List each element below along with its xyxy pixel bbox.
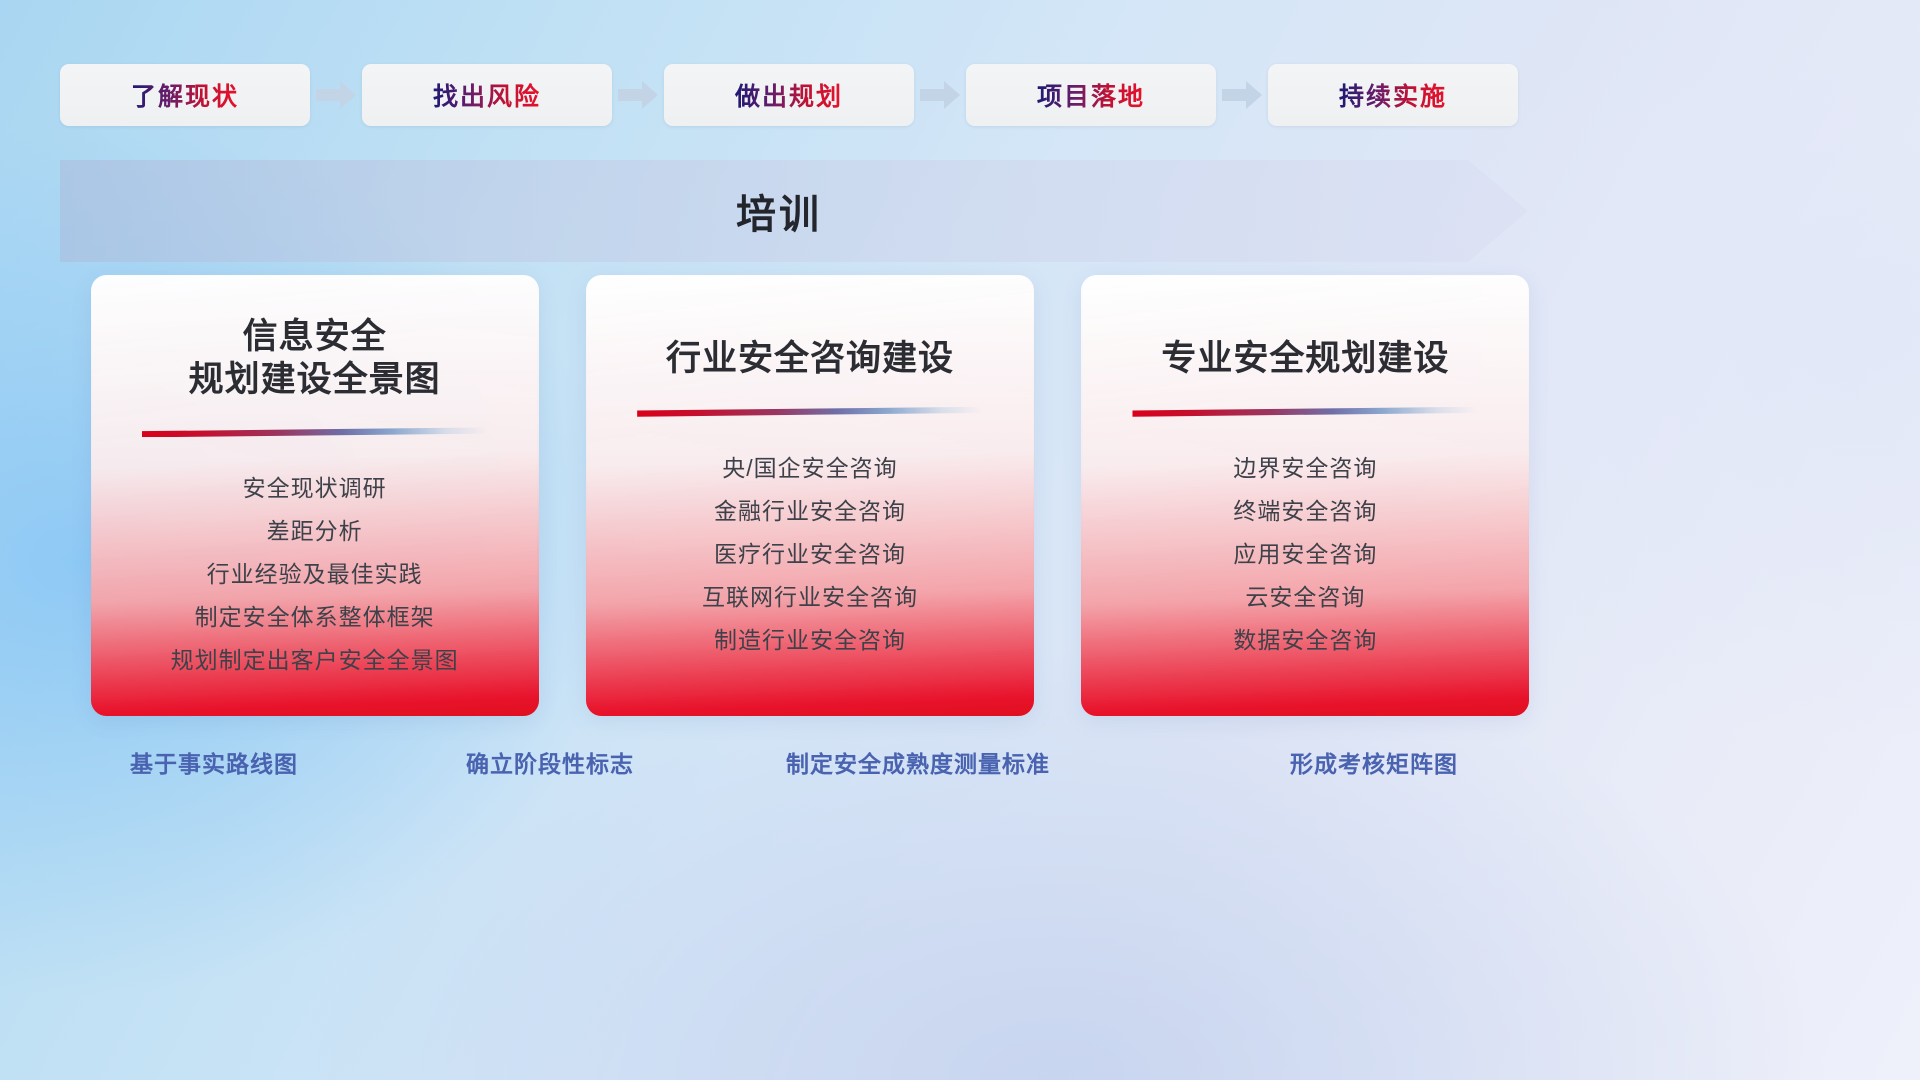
card-1[interactable]: 信息安全 规划建设全景图 安全现状调研 差距分析 行业经验及最佳实践 制定安全体… — [92, 276, 537, 714]
list-item: 金融行业安全咨询 — [611, 490, 1008, 533]
card-1-divider — [142, 427, 488, 437]
step-box-5[interactable]: 持续实施 — [1268, 64, 1518, 126]
footer-caption-3: 制定安全成熟度测量标准 — [786, 745, 1050, 779]
footer-caption-2: 确立阶段性标志 — [466, 745, 634, 779]
step-arrow-icon-4 — [1216, 80, 1268, 110]
footer-caption-4: 形成考核矩阵图 — [1290, 745, 1458, 779]
footer-caption-row: 基于事实路线图 确立阶段性标志 制定安全成熟度测量标准 形成考核矩阵图 — [0, 745, 1920, 789]
step-arrow-icon-1 — [310, 80, 362, 110]
list-item: 数据安全咨询 — [1107, 619, 1504, 662]
footer-caption-1: 基于事实路线图 — [130, 745, 298, 779]
card-3[interactable]: 专业安全规划建设 边界安全咨询 终端安全咨询 应用安全咨询 云安全咨询 数据安全… — [1083, 276, 1528, 714]
training-banner-title: 培训 — [60, 160, 1528, 262]
card-3-divider — [1132, 407, 1478, 417]
step-arrow-icon-3 — [914, 80, 966, 110]
step-label-3: 做出规划 — [735, 77, 843, 113]
list-item: 应用安全咨询 — [1107, 533, 1504, 576]
step-arrow-icon-2 — [612, 80, 664, 110]
card-3-title: 专业安全规划建设 — [1161, 316, 1449, 381]
step-label-5: 持续实施 — [1339, 77, 1447, 113]
list-item: 差距分析 — [116, 510, 513, 553]
step-label-2: 找出风险 — [433, 77, 541, 113]
list-item: 央/国企安全咨询 — [611, 447, 1008, 490]
card-2-divider — [637, 407, 983, 417]
list-item: 云安全咨询 — [1107, 576, 1504, 619]
card-row: 信息安全 规划建设全景图 安全现状调研 差距分析 行业经验及最佳实践 制定安全体… — [92, 276, 1528, 714]
card-2[interactable]: 行业安全咨询建设 央/国企安全咨询 金融行业安全咨询 医疗行业安全咨询 互联网行… — [587, 276, 1032, 714]
step-box-4[interactable]: 项目落地 — [966, 64, 1216, 126]
card-2-list: 央/国企安全咨询 金融行业安全咨询 医疗行业安全咨询 互联网行业安全咨询 制造行… — [611, 447, 1008, 662]
step-box-1[interactable]: 了解现状 — [60, 64, 310, 126]
list-item: 医疗行业安全咨询 — [611, 533, 1008, 576]
list-item: 安全现状调研 — [116, 467, 513, 510]
list-item: 制定安全体系整体框架 — [116, 596, 513, 639]
list-item: 规划制定出客户安全全景图 — [116, 639, 513, 682]
list-item: 边界安全咨询 — [1107, 447, 1504, 490]
card-2-title: 行业安全咨询建设 — [666, 316, 954, 381]
training-banner: 培训 — [60, 160, 1528, 262]
slide-canvas: 了解现状 找出风险 做出规划 项目落地 — [0, 0, 1920, 1080]
list-item: 制造行业安全咨询 — [611, 619, 1008, 662]
card-3-list: 边界安全咨询 终端安全咨询 应用安全咨询 云安全咨询 数据安全咨询 — [1107, 447, 1504, 662]
card-1-list: 安全现状调研 差距分析 行业经验及最佳实践 制定安全体系整体框架 规划制定出客户… — [116, 467, 513, 682]
step-label-4: 项目落地 — [1037, 77, 1145, 113]
step-box-3[interactable]: 做出规划 — [664, 64, 914, 126]
list-item: 终端安全咨询 — [1107, 490, 1504, 533]
list-item: 互联网行业安全咨询 — [611, 576, 1008, 619]
process-step-row: 了解现状 找出风险 做出规划 项目落地 — [60, 64, 1520, 126]
list-item: 行业经验及最佳实践 — [116, 553, 513, 596]
card-1-title: 信息安全 规划建设全景图 — [189, 316, 441, 401]
step-box-2[interactable]: 找出风险 — [362, 64, 612, 126]
step-label-1: 了解现状 — [131, 77, 239, 113]
